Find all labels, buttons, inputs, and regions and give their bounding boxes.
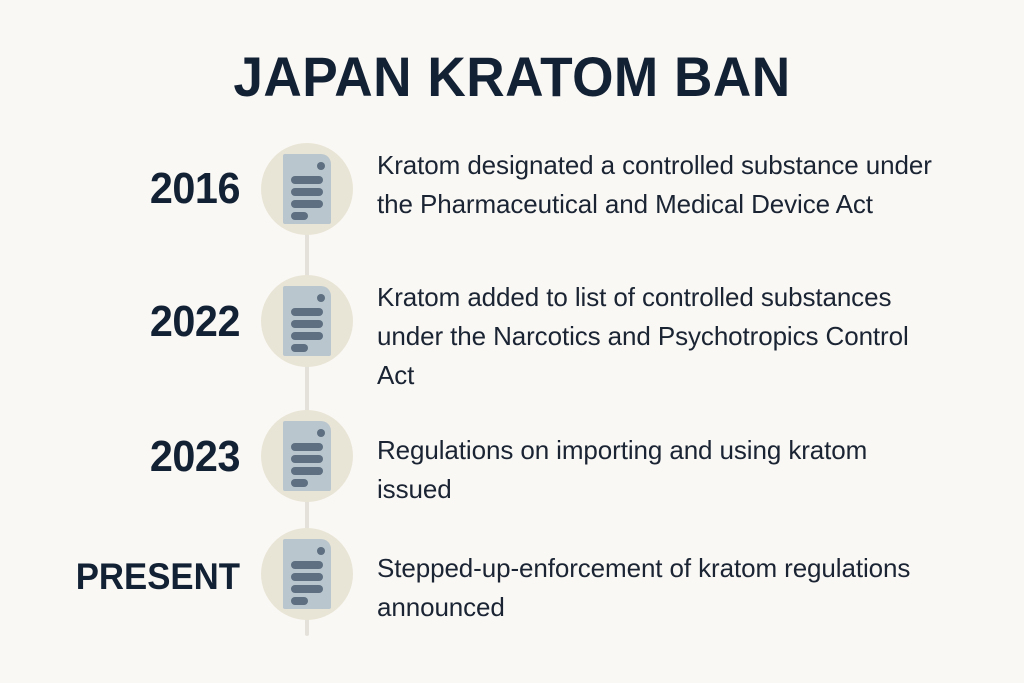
document-text-line bbox=[291, 561, 323, 569]
document-text-line bbox=[291, 467, 323, 475]
timeline-year-label: 2023 bbox=[52, 432, 240, 482]
timeline-marker bbox=[261, 410, 353, 502]
document-text-line bbox=[291, 200, 323, 208]
document-text-line bbox=[291, 344, 308, 352]
document-text-line bbox=[291, 585, 323, 593]
document-text-line bbox=[291, 212, 308, 220]
timeline-infographic: JAPAN KRATOM BAN 2016 Kratom designated … bbox=[0, 0, 1024, 683]
document-text-line bbox=[291, 332, 323, 340]
document-dot bbox=[317, 162, 325, 170]
timeline-item: 2022 Kratom added to list of controlled … bbox=[0, 275, 1024, 375]
document-text-line bbox=[291, 188, 323, 196]
document-dot bbox=[317, 547, 325, 555]
timeline-item: PRESENT Stepped-up-enforcement of kratom… bbox=[0, 528, 1024, 628]
document-text-line bbox=[291, 176, 323, 184]
timeline-marker bbox=[261, 528, 353, 620]
document-text-line bbox=[291, 573, 323, 581]
document-text-line bbox=[291, 479, 308, 487]
timeline-description: Kratom designated a controlled substance… bbox=[377, 146, 937, 224]
document-icon bbox=[283, 154, 331, 224]
timeline-description: Stepped-up-enforcement of kratom regulat… bbox=[377, 549, 937, 627]
document-icon bbox=[283, 286, 331, 356]
document-icon bbox=[283, 421, 331, 491]
document-text-line bbox=[291, 308, 323, 316]
timeline-year-label: 2016 bbox=[52, 164, 240, 214]
document-dot bbox=[317, 294, 325, 302]
document-text-line bbox=[291, 597, 308, 605]
page-title: JAPAN KRATOM BAN bbox=[26, 44, 999, 109]
timeline-year-label: 2022 bbox=[52, 297, 240, 347]
timeline-description: Regulations on importing and using krato… bbox=[377, 431, 937, 509]
timeline-year-label: PRESENT bbox=[52, 556, 240, 598]
document-text-line bbox=[291, 320, 323, 328]
document-text-line bbox=[291, 455, 323, 463]
timeline-marker bbox=[261, 143, 353, 235]
timeline-item: 2016 Kratom designated a controlled subs… bbox=[0, 142, 1024, 242]
document-text-line bbox=[291, 443, 323, 451]
timeline-description: Kratom added to list of controlled subst… bbox=[377, 278, 937, 395]
document-icon bbox=[283, 539, 331, 609]
timeline-item: 2023 Regulations on importing and using … bbox=[0, 410, 1024, 510]
document-dot bbox=[317, 429, 325, 437]
timeline-marker bbox=[261, 275, 353, 367]
